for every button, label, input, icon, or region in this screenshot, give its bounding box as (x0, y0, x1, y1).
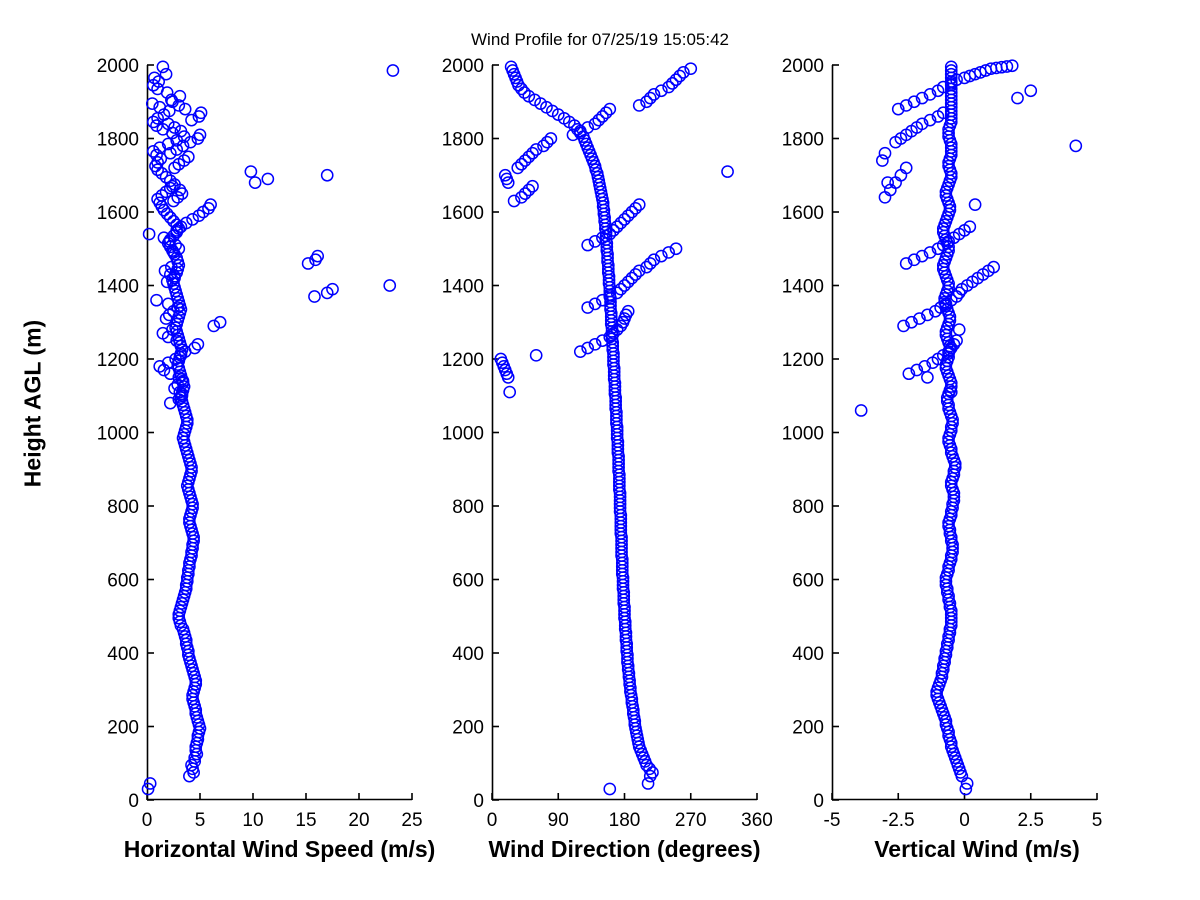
data-point-marker (151, 295, 162, 306)
data-point-marker (970, 199, 981, 210)
x-tick-label: 180 (609, 810, 641, 831)
y-tick-label: 2000 (442, 56, 484, 77)
x-tick-label: 90 (548, 810, 569, 831)
y-tick-label: 600 (452, 571, 484, 592)
data-point-marker (877, 155, 888, 166)
y-tick-label: 1000 (97, 424, 139, 445)
data-point-marker (160, 69, 171, 80)
x-tick-label: 270 (675, 810, 707, 831)
x-axis-label-wind-direction: Wind Direction (degrees) (457, 836, 792, 863)
y-tick-label: 1600 (97, 203, 139, 224)
data-point-marker (604, 783, 615, 794)
y-tick-label: 0 (128, 791, 139, 812)
x-tick-label: 15 (295, 810, 316, 831)
data-point-marker (205, 199, 216, 210)
y-tick-label: 1600 (442, 203, 484, 224)
data-point-marker (187, 214, 198, 225)
data-point-marker (312, 251, 323, 262)
y-tick-label: 0 (473, 791, 484, 812)
x-tick-label: 0 (959, 810, 970, 831)
y-tick-label: 1000 (442, 424, 484, 445)
x-tick-label: 360 (741, 810, 773, 831)
x-tick-label: 0 (142, 810, 153, 831)
data-point-marker (531, 350, 542, 361)
y-tick-label: 400 (452, 644, 484, 665)
x-tick-label: 5 (195, 810, 206, 831)
data-point-marker (879, 148, 890, 159)
data-point-marker (144, 228, 155, 239)
panel-wind-direction: 0200400600800100012001400160018002000090… (492, 65, 757, 800)
data-point-marker (642, 778, 653, 789)
panel-vertical-wind: 0200400600800100012001400160018002000-5-… (832, 65, 1122, 800)
y-tick-label: 2000 (782, 56, 824, 77)
y-tick-label: 1200 (782, 350, 824, 371)
data-point-marker (215, 317, 226, 328)
data-markers (142, 61, 398, 794)
y-tick-label: 1400 (442, 277, 484, 298)
figure-title: Wind Profile for 07/25/19 15:05:42 (0, 30, 1200, 50)
data-point-marker (322, 170, 333, 181)
y-axis-label: Height AGL (m) (20, 314, 47, 494)
y-tick-label: 1600 (782, 203, 824, 224)
data-point-marker (882, 177, 893, 188)
y-tick-label: 1200 (442, 350, 484, 371)
y-tick-label: 800 (792, 497, 824, 518)
panel-horizontal-wind-speed: 0200400600800100012001400160018002000051… (147, 65, 412, 800)
data-markers (495, 61, 733, 794)
data-point-marker (157, 61, 168, 72)
y-tick-label: 1800 (97, 130, 139, 151)
data-point-marker (1070, 140, 1081, 151)
x-tick-label: -2.5 (882, 810, 915, 831)
data-point-marker (309, 291, 320, 302)
y-tick-label: 800 (107, 497, 139, 518)
x-tick-label: 0 (487, 810, 498, 831)
data-markers (856, 60, 1082, 794)
y-tick-label: 600 (792, 571, 824, 592)
data-point-marker (1025, 85, 1036, 96)
y-tick-label: 1000 (782, 424, 824, 445)
x-tick-label: 5 (1092, 810, 1103, 831)
data-point-marker (262, 173, 273, 184)
x-axis-label-vertical-wind: Vertical Wind (m/s) (827, 836, 1127, 863)
data-point-marker (647, 767, 658, 778)
y-tick-label: 400 (792, 644, 824, 665)
y-tick-label: 1800 (782, 130, 824, 151)
data-point-marker (722, 166, 733, 177)
y-tick-label: 200 (452, 718, 484, 739)
data-point-marker (245, 166, 256, 177)
data-point-marker (194, 129, 205, 140)
data-point-marker (922, 372, 933, 383)
y-tick-label: 1400 (782, 277, 824, 298)
x-tick-label: 10 (242, 810, 263, 831)
y-tick-label: 800 (452, 497, 484, 518)
x-tick-label: 20 (348, 810, 369, 831)
y-tick-label: 1400 (97, 277, 139, 298)
data-point-marker (250, 177, 261, 188)
data-point-marker (500, 170, 511, 181)
data-point-marker (1012, 92, 1023, 103)
data-point-marker (954, 324, 965, 335)
axes-wind-direction: 0200400600800100012001400160018002000090… (492, 65, 757, 800)
y-tick-label: 400 (107, 644, 139, 665)
x-tick-label: 25 (401, 810, 422, 831)
data-point-marker (180, 104, 191, 115)
x-axis-label-horizontal-wind-speed: Horizontal Wind Speed (m/s) (97, 836, 462, 863)
y-tick-label: 1800 (442, 130, 484, 151)
data-point-marker (384, 280, 395, 291)
axes-vertical-wind: 0200400600800100012001400160018002000-5-… (832, 65, 1122, 800)
data-point-marker (504, 386, 515, 397)
y-tick-label: 200 (107, 718, 139, 739)
wind-profile-figure: Wind Profile for 07/25/19 15:05:42 Heigh… (0, 0, 1200, 900)
x-tick-label: 2.5 (1018, 810, 1044, 831)
data-point-marker (208, 320, 219, 331)
data-point-marker (856, 405, 867, 416)
y-tick-label: 600 (107, 571, 139, 592)
axes-horizontal-wind-speed: 0200400600800100012001400160018002000051… (147, 65, 412, 800)
x-tick-label: -5 (824, 810, 841, 831)
data-point-marker (387, 65, 398, 76)
y-tick-label: 1200 (97, 350, 139, 371)
y-tick-label: 2000 (97, 56, 139, 77)
y-tick-label: 0 (813, 791, 824, 812)
data-point-marker (506, 61, 517, 72)
y-tick-label: 200 (792, 718, 824, 739)
data-point-marker (195, 107, 206, 118)
